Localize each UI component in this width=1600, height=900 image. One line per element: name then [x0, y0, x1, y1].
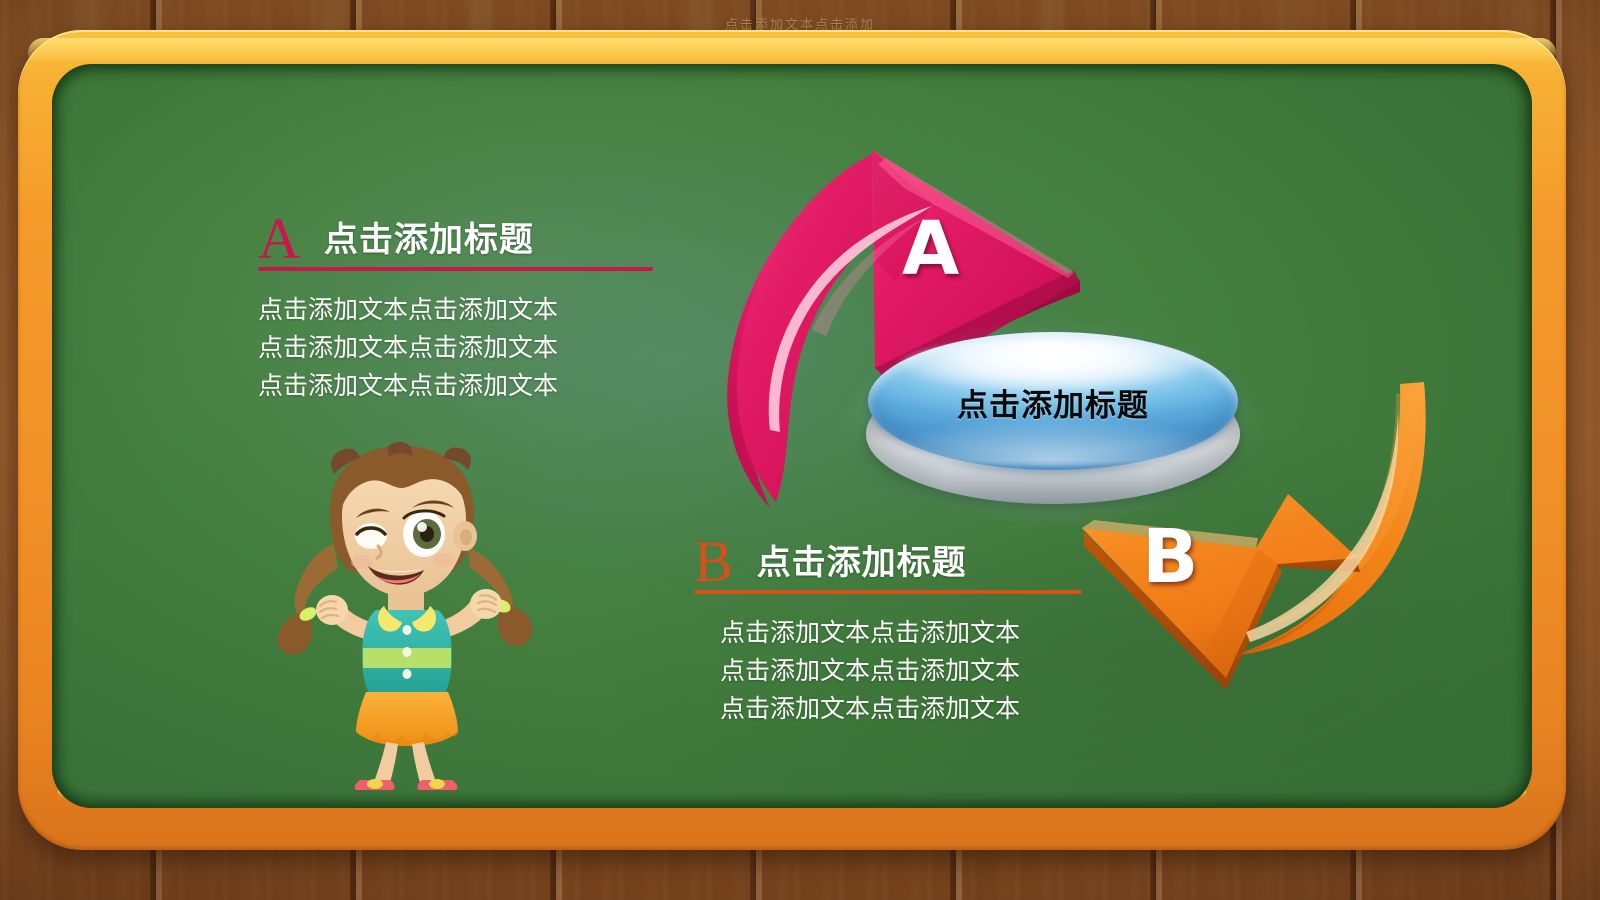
- arrow-a-label: A: [902, 212, 959, 286]
- section-b-letter: B: [694, 535, 733, 588]
- section-a-line-3: 点击添加文本点击添加文本: [258, 367, 653, 405]
- section-a-header: A 点击添加标题: [258, 212, 653, 265]
- section-a-rule: [258, 267, 653, 271]
- center-node[interactable]: 点击添加标题: [862, 330, 1244, 508]
- arrow-b-label: B: [1142, 520, 1198, 594]
- frame-top-highlight: [28, 38, 1556, 64]
- cartoon-girl-illustration: [272, 440, 552, 790]
- section-b-line-3: 点击添加文本点击添加文本: [720, 690, 1082, 728]
- section-b-title[interactable]: 点击添加标题: [757, 535, 967, 588]
- section-a-line-1: 点击添加文本点击添加文本: [258, 291, 653, 329]
- slide-canvas: 点击添加文本点击添加 A 点击添加标题 点击添加文本点击添加文本 点击添加文本点…: [0, 0, 1600, 900]
- section-a-body[interactable]: 点击添加文本点击添加文本 点击添加文本点击添加文本 点击添加文本点击添加文本: [258, 291, 653, 405]
- section-a-line-2: 点击添加文本点击添加文本: [258, 329, 653, 367]
- center-node-lower-highlight: [872, 418, 1234, 466]
- section-a-title[interactable]: 点击添加标题: [324, 212, 534, 265]
- section-a-letter: A: [258, 212, 300, 265]
- section-a[interactable]: A 点击添加标题 点击添加文本点击添加文本 点击添加文本点击添加文本 点击添加文…: [258, 212, 653, 405]
- center-node-label[interactable]: 点击添加标题: [862, 380, 1244, 425]
